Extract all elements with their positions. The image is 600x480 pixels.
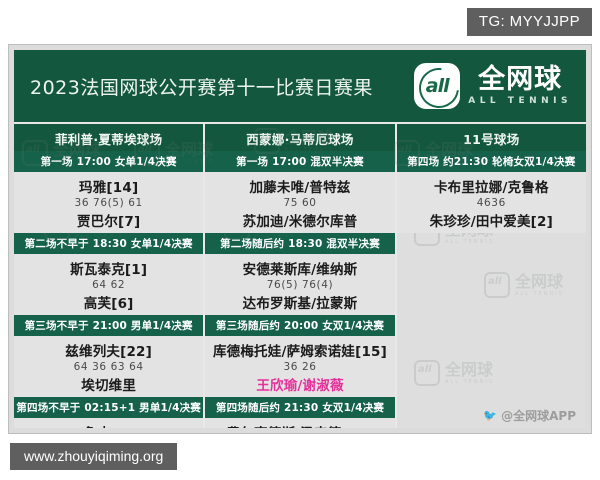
app-watermark: 🐦 @全网球APP [483,407,576,424]
match-row-2-4[interactable]: 费尔南德斯/汤森德[10] 63 63 詹咏然/詹皓晴[14] [205,418,394,428]
match-bar-3-1: 第四场 约21:30 轮椅女双1/4决赛 [397,151,586,172]
player-top: 加藤未唯/普特兹 [249,176,350,196]
brand-logo: all 全网球 ALL TENNIS [414,63,572,109]
player-top: 兹维列夫[22] [65,340,152,360]
match-row-1-2[interactable]: 斯瓦泰克[1] 64 62 高芙[6] [14,254,203,315]
brand-name-en: ALL TENNIS [468,97,572,106]
court-column-3: 11号球场 第四场 约21:30 轮椅女双1/4决赛 卡布里拉娜/克鲁格 463… [397,122,586,428]
match-score: 36 76(5) 61 [75,197,143,209]
player-top: 卡布里拉娜/克鲁格 [434,176,549,196]
player-bottom-highlight: 朱珍珍 [430,214,471,230]
match-row-3-1[interactable]: 卡布里拉娜/克鲁格 4636 朱珍珍/田中爱美[2] [397,172,586,233]
match-row-2-3[interactable]: 库德梅托娃/萨姆索诺娃[15] 36 26 王欣瑜/谢淑薇 [205,336,394,397]
player-bottom: 贾巴尔[7] [77,210,140,230]
match-bar-1-3: 第三场不早于 21:00 男单1/4决赛 [14,315,203,336]
player-bottom: 达布罗斯基/拉蒙斯 [243,292,358,312]
bird-icon: 🐦 [483,409,497,422]
match-bar-1-2: 第二场不早于 18:30 女单1/4决赛 [14,233,203,254]
match-row-2-2[interactable]: 安德莱斯库/维纳斯 76(5) 76(4) 达布罗斯基/拉蒙斯 [205,254,394,315]
brand-text: 全网球 ALL TENNIS [468,66,572,106]
match-row-3-2 [397,251,586,312]
screenshot-root: TG: MYYJJPP 2023法国网球公开赛第十一比赛日赛果 all 全网球 … [0,0,600,480]
match-score: 76(5) 76(4) [267,279,333,291]
court-name-3: 11号球场 [397,122,586,151]
url-overlay: www.zhouyiqiming.org [10,443,177,470]
player-bottom: 高芙[6] [84,292,134,312]
match-score: 64 62 [92,279,125,291]
brand-name-cn: 全网球 [478,66,562,93]
player-bottom: 王欣瑜/谢淑薇 [256,374,343,394]
court-name-2: 西蒙娜·马蒂厄球场 [205,122,394,151]
match-row-1-3[interactable]: 兹维列夫[22] 64 36 63 64 埃切维里 [14,336,203,397]
match-row-1-1[interactable]: 玛雅[14] 36 76(5) 61 贾巴尔[7] [14,172,203,233]
match-score: 36 26 [283,361,316,373]
match-score: 4636 [477,197,506,209]
match-bar-1-1: 第一场 17:00 女单1/4决赛 [14,151,203,172]
player-top: 玛雅[14] [79,176,138,196]
court-column-1: 菲利普·夏蒂埃球场 第一场 17:00 女单1/4决赛 玛雅[14] 36 76… [14,122,205,428]
match-bar-1-4: 第四场不早于 02:15+1 男单1/4决赛 [14,397,203,418]
telegram-tag-overlay: TG: MYYJJPP [467,8,592,36]
page-title: 2023法国网球公开赛第十一比赛日赛果 [30,73,373,100]
all-wordmark: all [426,77,449,96]
banner: 2023法国网球公开赛第十一比赛日赛果 all 全网球 ALL TENNIS [14,50,586,122]
match-score: 75 60 [283,197,316,209]
player-bottom-rest: /田中爱美[2] [471,214,553,230]
all-logo-icon: all [414,63,460,109]
player-bottom: 埃切维里 [81,374,136,394]
results-card-inner: 2023法国网球公开赛第十一比赛日赛果 all 全网球 ALL TENNIS 全… [14,50,586,428]
match-bar-2-1: 第一场 17:00 混双半决赛 [205,151,394,172]
player-bottom: 苏加迪/米德尔库普 [243,210,358,230]
match-bar-2-4: 第四场随后约 21:30 女双1/4决赛 [205,397,394,418]
match-row-3-3 [397,330,586,391]
match-bar-2-3: 第三场随后约 20:00 女双1/4决赛 [205,315,394,336]
match-bar-2-2: 第二场随后约 18:30 混双半决赛 [205,233,394,254]
player-top: 库德梅托娃/萨姆索诺娃[15] [213,340,387,360]
results-card: 2023法国网球公开赛第十一比赛日赛果 all 全网球 ALL TENNIS 全… [8,44,592,434]
player-top: 鲁内[6] [84,422,134,429]
match-score: 64 36 63 64 [74,361,144,373]
match-row-1-4[interactable]: 鲁内[6] 16 26 63 36 鲁德[4] [14,418,203,428]
match-row-2-1[interactable]: 加藤未唯/普特兹 75 60 苏加迪/米德尔库普 [205,172,394,233]
app-watermark-label: @全网球APP [501,407,576,424]
results-table: 菲利普·夏蒂埃球场 第一场 17:00 女单1/4决赛 玛雅[14] 36 76… [14,122,586,428]
player-top: 费尔南德斯/汤森德[10] [227,422,374,429]
player-top: 斯瓦泰克[1] [70,258,147,278]
court-name-1: 菲利普·夏蒂埃球场 [14,122,203,151]
player-bottom: 朱珍珍/田中爱美[2] [430,210,553,230]
court-column-2: 西蒙娜·马蒂厄球场 第一场 17:00 混双半决赛 加藤未唯/普特兹 75 60… [205,122,396,428]
player-top: 安德莱斯库/维纳斯 [243,258,358,278]
